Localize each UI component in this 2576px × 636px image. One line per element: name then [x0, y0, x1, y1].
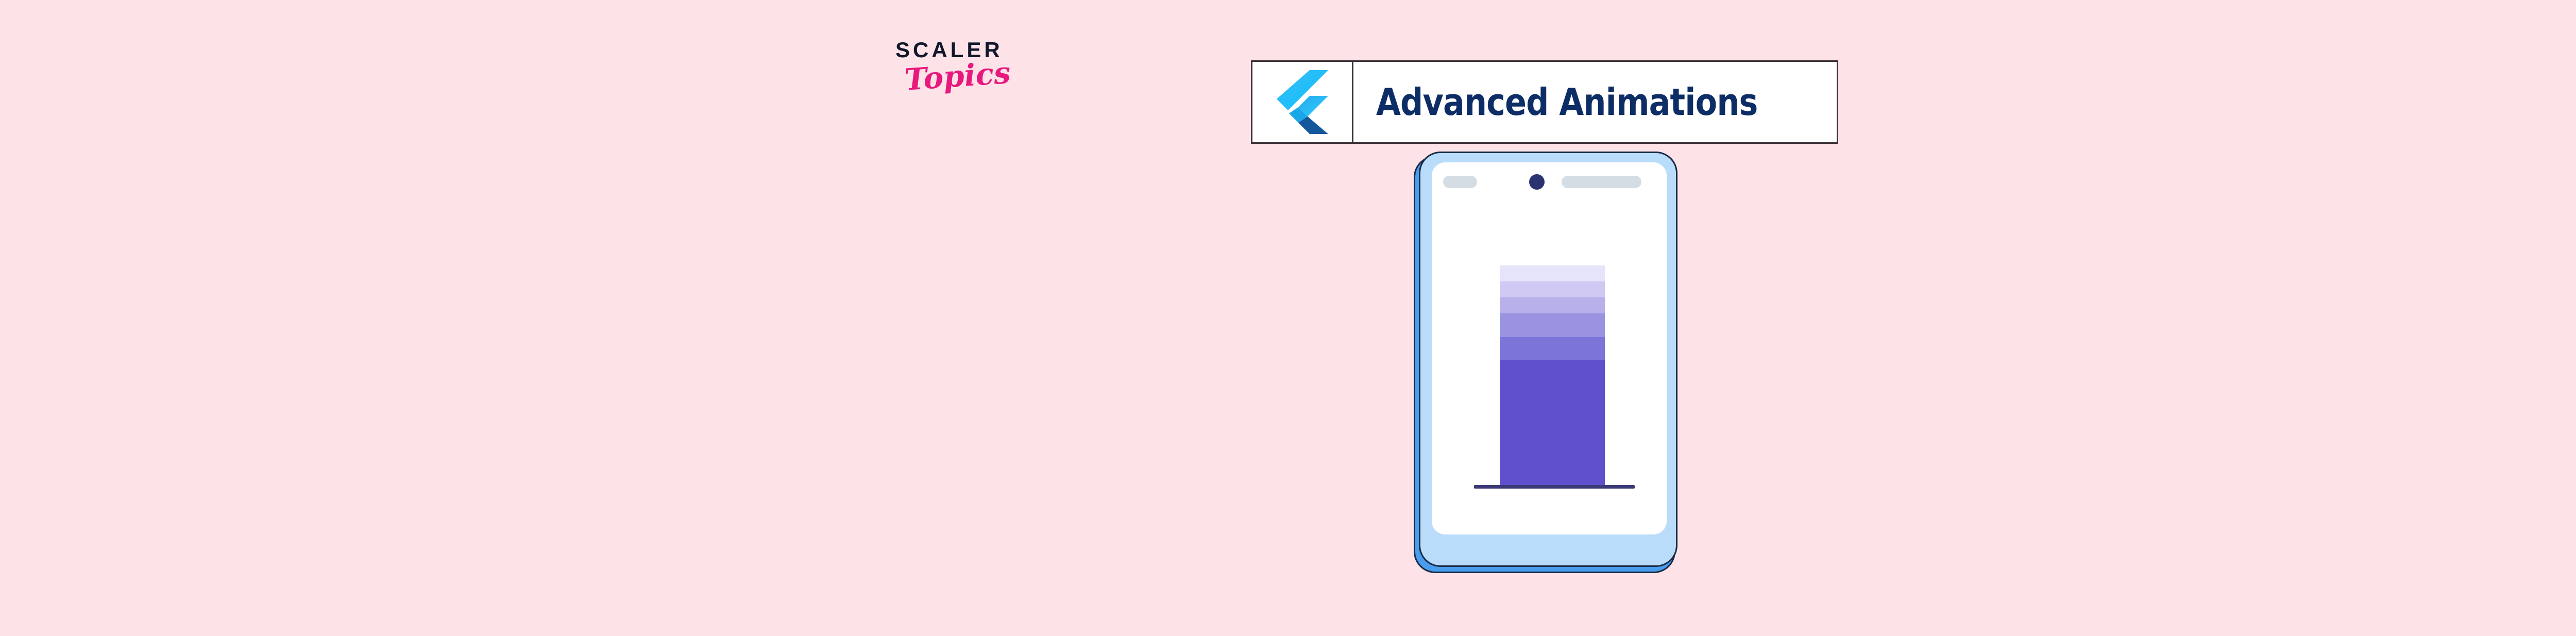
- gradient-bar: [1500, 265, 1605, 485]
- flutter-logo-icon: [1276, 69, 1329, 135]
- phone-mockup: [1414, 152, 1677, 573]
- title-text-cell: Advanced Animations: [1353, 62, 1837, 142]
- brand-script: Topics: [904, 56, 1040, 95]
- bar-band: [1500, 281, 1605, 297]
- bar-chart-area: [1432, 162, 1667, 534]
- title-bar: Advanced Animations: [1251, 60, 1838, 144]
- chart-baseline: [1474, 485, 1635, 489]
- phone-body: [1419, 152, 1677, 567]
- phone-screen: [1432, 162, 1667, 534]
- bar-band: [1500, 265, 1605, 281]
- bar-band: [1500, 313, 1605, 337]
- page-title: Advanced Animations: [1376, 80, 1758, 124]
- title-logo-cell: [1252, 62, 1353, 142]
- bar-band: [1500, 360, 1605, 485]
- bar-band: [1500, 297, 1605, 313]
- brand-logo: SCALER Topics: [895, 39, 1040, 111]
- bar-band: [1500, 337, 1605, 360]
